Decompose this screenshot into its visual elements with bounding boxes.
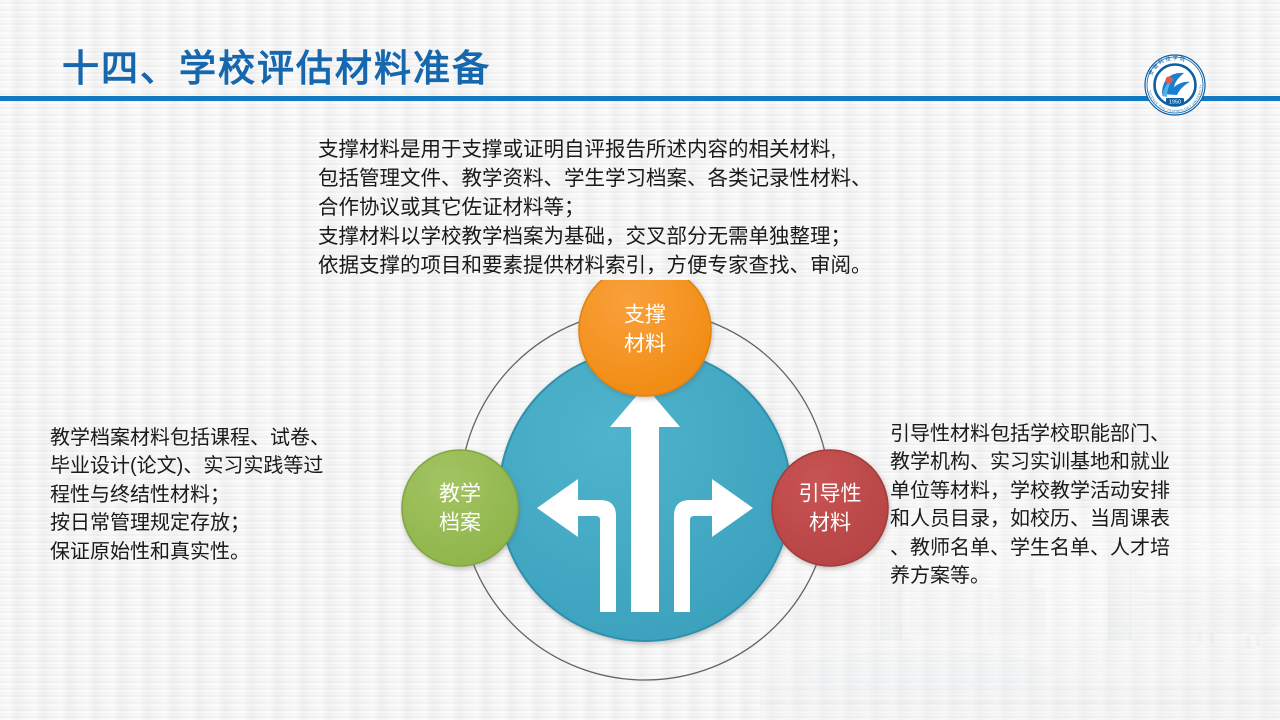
node-teaching-archive-line1: 教学 xyxy=(439,483,481,506)
header-divider-rule xyxy=(0,96,1280,101)
three-node-hub-diagram: 支撑 材料 教学 档案 引导性 材料 xyxy=(400,280,900,700)
node-support-material-line2: 材料 xyxy=(624,333,666,356)
logo-year-text: 1950 xyxy=(1169,100,1181,106)
node-guiding-material: 引导性 材料 xyxy=(772,450,888,566)
guiding-material-description: 引导性材料包括学校职能部门、 教学机构、实习实训基地和就业 单位等材料，学校教学… xyxy=(890,420,1240,590)
node-guiding-material-line2: 材料 xyxy=(809,512,851,535)
slide-canvas: 十四、学校评估材料准备 1950 安徽科技学院 SCIENCE AND TECH… xyxy=(0,0,1280,720)
node-teaching-archive: 教学 档案 xyxy=(402,450,518,566)
teaching-archive-description: 教学档案材料包括课程、试卷、 毕业设计(论文)、实习实践等过 程性与终结性材料；… xyxy=(50,424,400,566)
node-teaching-archive-line2: 档案 xyxy=(439,512,481,535)
page-title: 十四、学校评估材料准备 xyxy=(62,38,491,92)
node-support-material-line1: 支撑 xyxy=(624,304,666,327)
university-seal-logo: 1950 安徽科技学院 SCIENCE AND TECHNOLOGY UNIVE… xyxy=(1140,54,1210,116)
intro-paragraph: 支撑材料是用于支撑或证明自评报告所述内容的相关材料, 包括管理文件、教学资料、学… xyxy=(318,135,1018,281)
node-guiding-material-line1: 引导性 xyxy=(799,483,862,506)
